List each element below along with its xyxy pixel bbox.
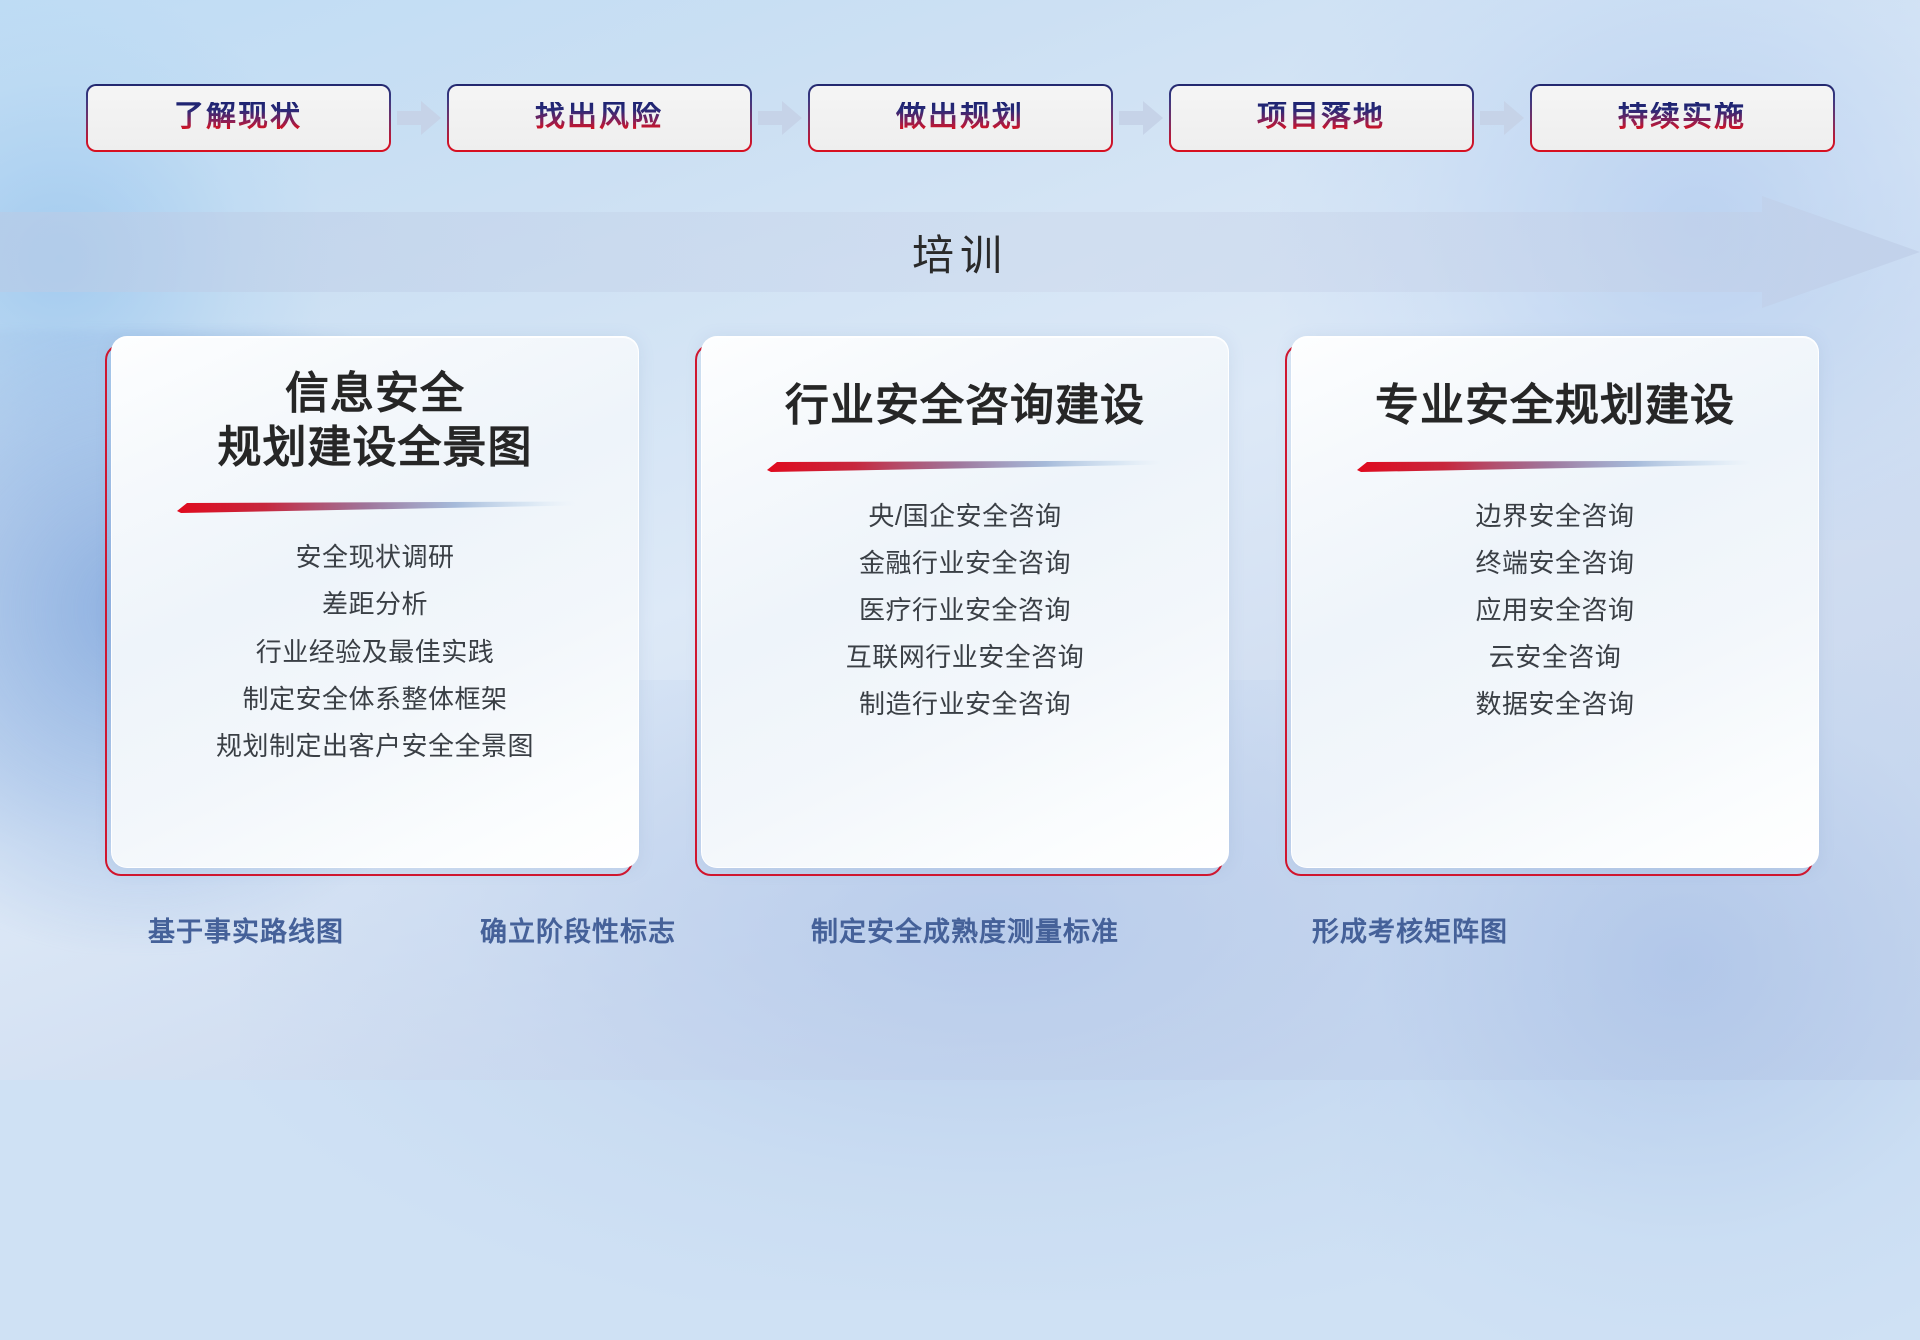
list-item: 医疗行业安全咨询 xyxy=(859,589,1071,631)
card-1-divider xyxy=(175,500,575,514)
card-2-title-line-1: 行业安全咨询建设 xyxy=(785,379,1145,433)
list-item: 终端安全咨询 xyxy=(1475,542,1634,584)
footer-label-1: 基于事实路线图 xyxy=(148,910,344,949)
right-arrow-icon xyxy=(1480,101,1524,135)
list-item: 行业经验及最佳实践 xyxy=(256,631,495,673)
card-3-list: 边界安全咨询 终端安全咨询 应用安全咨询 云安全咨询 数据安全咨询 xyxy=(1475,495,1634,726)
step-label-3: 做出规划 xyxy=(896,102,1024,135)
footer-label-3: 制定安全成熟度测量标准 xyxy=(811,910,1119,949)
step-box-1[interactable]: 了解现状 xyxy=(86,84,391,152)
list-item: 制造行业安全咨询 xyxy=(859,683,1071,725)
list-item: 边界安全咨询 xyxy=(1475,495,1634,537)
list-item: 应用安全咨询 xyxy=(1475,589,1634,631)
card-1-surface: 信息安全 规划建设全景图 xyxy=(111,336,639,868)
card-2[interactable]: 行业安全咨询建设 xyxy=(695,336,1225,876)
list-item: 规划制定出客户安全全景图 xyxy=(216,725,534,767)
card-2-divider xyxy=(765,459,1165,473)
list-item: 数据安全咨询 xyxy=(1475,683,1634,725)
step-label-1: 了解现状 xyxy=(174,102,302,135)
process-step-row: 了解现状 找出风险 做出规划 项目落地 持续实施 xyxy=(0,78,1920,158)
step-label-2: 找出风险 xyxy=(535,102,663,135)
card-3-surface: 专业安全规划建设 xyxy=(1291,336,1819,868)
card-1-title-line-1: 信息安全 xyxy=(218,367,533,421)
card-3-title: 专业安全规划建设 xyxy=(1375,379,1735,433)
card-1-title-line-2: 规划建设全景图 xyxy=(218,421,533,475)
card-row: 信息安全 规划建设全景图 xyxy=(0,336,1920,876)
step-connector-arrow-2 xyxy=(752,84,808,152)
step-connector-arrow-1 xyxy=(391,84,447,152)
list-item: 金融行业安全咨询 xyxy=(859,542,1071,584)
list-item: 云安全咨询 xyxy=(1489,636,1622,678)
right-arrow-icon xyxy=(397,101,441,135)
card-2-list: 央/国企安全咨询 金融行业安全咨询 医疗行业安全咨询 互联网行业安全咨询 制造行… xyxy=(846,495,1085,726)
list-item: 制定安全体系整体框架 xyxy=(242,678,507,720)
list-item: 互联网行业安全咨询 xyxy=(846,636,1085,678)
step-box-5[interactable]: 持续实施 xyxy=(1530,84,1835,152)
footer-label-row: 基于事实路线图 确立阶段性标志 制定安全成熟度测量标准 形成考核矩阵图 xyxy=(0,910,1920,970)
step-label-4: 项目落地 xyxy=(1257,102,1385,135)
step-box-2[interactable]: 找出风险 xyxy=(447,84,752,152)
gradient-divider-icon xyxy=(765,459,1165,473)
list-item: 安全现状调研 xyxy=(295,536,454,578)
card-2-surface: 行业安全咨询建设 xyxy=(701,336,1229,868)
step-box-4[interactable]: 项目落地 xyxy=(1169,84,1474,152)
card-1[interactable]: 信息安全 规划建设全景图 xyxy=(105,336,635,876)
step-label-5: 持续实施 xyxy=(1618,102,1746,135)
right-arrow-icon xyxy=(1119,101,1163,135)
card-3[interactable]: 专业安全规划建设 xyxy=(1285,336,1815,876)
card-1-list: 安全现状调研 差距分析 行业经验及最佳实践 制定安全体系整体框架 规划制定出客户… xyxy=(216,536,534,767)
card-3-divider xyxy=(1355,459,1755,473)
list-item: 央/国企安全咨询 xyxy=(868,495,1061,537)
step-connector-arrow-4 xyxy=(1474,84,1530,152)
list-item: 差距分析 xyxy=(322,583,428,625)
footer-label-4: 形成考核矩阵图 xyxy=(1312,910,1508,949)
long-right-arrow-icon xyxy=(0,196,1920,308)
card-1-title: 信息安全 规划建设全景图 xyxy=(218,367,533,474)
step-connector-arrow-3 xyxy=(1113,84,1169,152)
footer-label-2: 确立阶段性标志 xyxy=(480,910,676,949)
step-box-3[interactable]: 做出规划 xyxy=(808,84,1113,152)
gradient-divider-icon xyxy=(1355,459,1755,473)
training-band xyxy=(0,196,1920,308)
card-2-title: 行业安全咨询建设 xyxy=(785,379,1145,433)
card-3-title-line-1: 专业安全规划建设 xyxy=(1375,379,1735,433)
right-arrow-icon xyxy=(758,101,802,135)
gradient-divider-icon xyxy=(175,500,575,514)
